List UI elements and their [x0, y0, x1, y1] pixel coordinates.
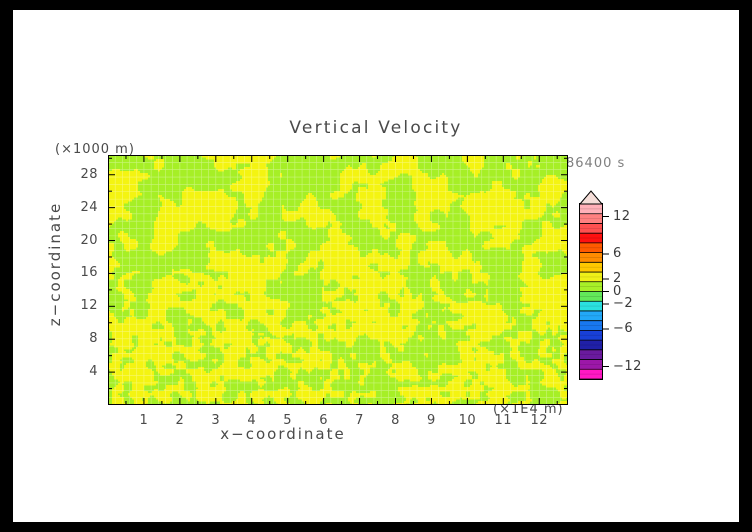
y-tick-label: 24 — [64, 200, 98, 215]
colorbar-tick-label: −12 — [613, 359, 642, 374]
y-tick-label: 4 — [64, 364, 98, 379]
x-tick-label: 11 — [490, 413, 516, 428]
contour-plot — [108, 155, 568, 409]
y-tick-label: 16 — [64, 265, 98, 280]
x-tick-label: 1 — [131, 413, 157, 428]
x-tick-label: 7 — [347, 413, 373, 428]
x-tick-label: 2 — [167, 413, 193, 428]
plot-canvas: Vertical Velocity (×1000 m) 86400 s z−co… — [13, 10, 739, 522]
x-tick-label: 10 — [454, 413, 480, 428]
colorbar-tick-label: 6 — [613, 246, 622, 261]
x-tick-label: 3 — [203, 413, 229, 428]
page-title: Vertical Velocity — [13, 118, 739, 138]
x-tick-label: 5 — [275, 413, 301, 428]
y-tick-label: 8 — [64, 331, 98, 346]
x-tick-label: 6 — [311, 413, 337, 428]
image-border: Vertical Velocity (×1000 m) 86400 s z−co… — [0, 0, 752, 532]
x-tick-label: 8 — [383, 413, 409, 428]
x-tick-label: 9 — [418, 413, 444, 428]
colorbar-tick-label: −6 — [613, 321, 633, 336]
contour-plot-svg — [108, 155, 568, 405]
colorbar-top-arrow — [580, 191, 602, 204]
colorbar-tick-label: −2 — [613, 296, 633, 311]
y-tick-label: 20 — [64, 233, 98, 248]
y-tick-label: 12 — [64, 298, 98, 313]
timestamp-label: 86400 s — [566, 156, 625, 171]
y-tick-label: 28 — [64, 167, 98, 182]
x-tick-label: 12 — [526, 413, 552, 428]
x-tick-label: 4 — [239, 413, 265, 428]
colorbar-tick-label: 12 — [613, 209, 631, 224]
y-axis-title: z−coordinate — [46, 184, 64, 344]
